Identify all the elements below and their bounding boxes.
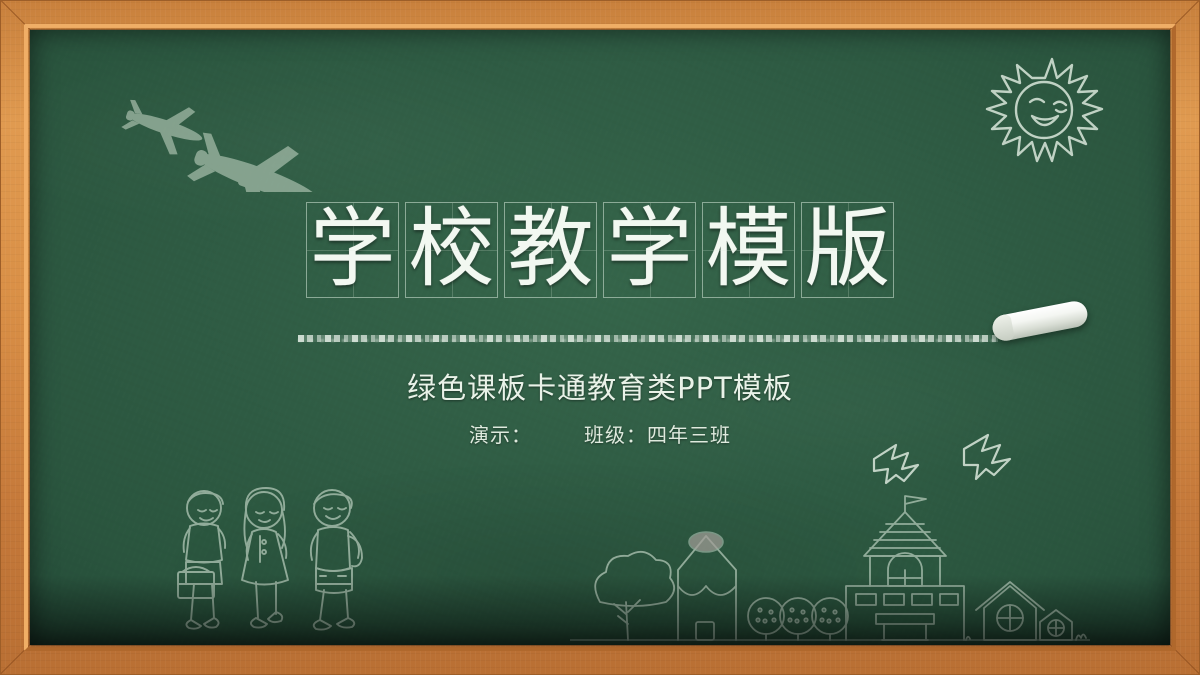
title-character: 学 [604, 202, 695, 296]
title-cell: 学 [603, 202, 696, 298]
chalkboard: 学 校 教 学 模 版 绿色课板卡通教育类PPT模板 演示：班级：四年三班 [30, 30, 1170, 645]
chalk-divider-line [298, 335, 998, 342]
children-group-illustration [160, 480, 400, 645]
subtitle: 绿色课板卡通教育类PPT模板 [30, 365, 1170, 407]
slide-meta: 演示：班级：四年三班 [30, 419, 1170, 448]
title-character-grid: 学 校 教 学 模 版 [306, 202, 894, 298]
title-character: 学 [307, 202, 398, 296]
title-character: 教 [505, 202, 596, 296]
title-character: 版 [802, 202, 893, 296]
title-character: 模 [703, 202, 794, 296]
board-bottom-shadow [30, 575, 1170, 645]
title-cell: 版 [801, 202, 894, 298]
class-value: 四年三班 [647, 423, 731, 447]
title-cell: 教 [504, 202, 597, 298]
title-character: 校 [406, 202, 497, 296]
title-cell: 学 [306, 202, 399, 298]
airplane-icon [102, 82, 352, 192]
title-cell: 模 [702, 202, 795, 298]
title-cell: 校 [405, 202, 498, 298]
slide-canvas: 学 校 教 学 模 版 绿色课板卡通教育类PPT模板 演示：班级：四年三班 [0, 0, 1200, 675]
class-label: 班级： [584, 423, 647, 447]
chalk-stick [990, 299, 1089, 343]
school-landscape-illustration [570, 490, 1090, 645]
smiling-sun-icon [980, 52, 1110, 177]
presenter-label: 演示： [469, 423, 532, 447]
page-title: 学 校 教 学 模 版 [30, 202, 1170, 303]
